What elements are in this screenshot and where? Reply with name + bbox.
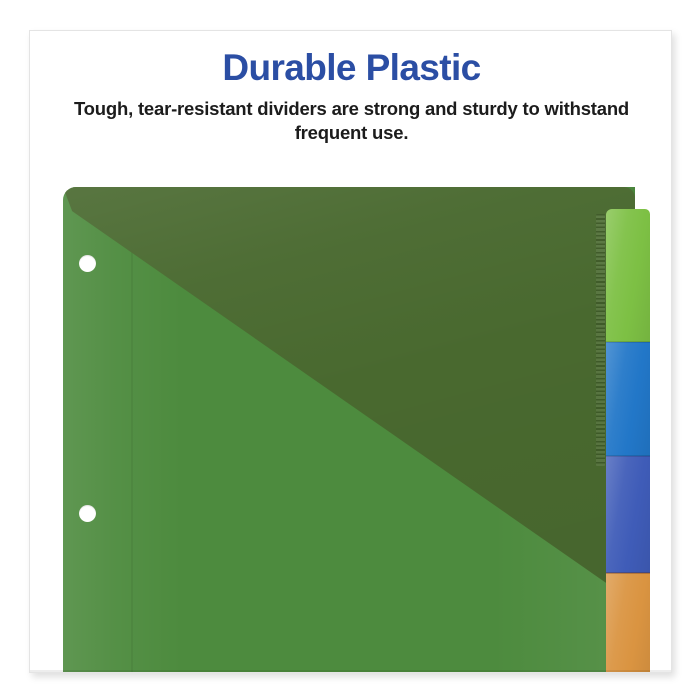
- product-image-card: Durable Plastic Tough, tear-resistant di…: [29, 30, 672, 673]
- index-tab-orange: [606, 573, 650, 673]
- card-bottom-edge: [30, 670, 672, 672]
- index-tab-green: [606, 209, 650, 342]
- binder-hole-bottom: [79, 505, 96, 522]
- ridged-binding-strip: [596, 214, 605, 466]
- tab-sheen: [606, 209, 650, 342]
- tab-separator: [606, 572, 650, 574]
- tab-sheen: [606, 456, 650, 573]
- index-tab-blue: [606, 342, 650, 456]
- tab-separator: [606, 341, 650, 343]
- sheet-binding-crease: [131, 187, 133, 673]
- tab-sheen: [606, 342, 650, 456]
- tab-separator: [606, 455, 650, 457]
- product-photo: [30, 31, 672, 673]
- index-tab-indigo: [606, 456, 650, 573]
- tab-sheen: [606, 573, 650, 673]
- binder-hole-top: [79, 255, 96, 272]
- product-marketing-image: Durable Plastic Tough, tear-resistant di…: [0, 0, 700, 700]
